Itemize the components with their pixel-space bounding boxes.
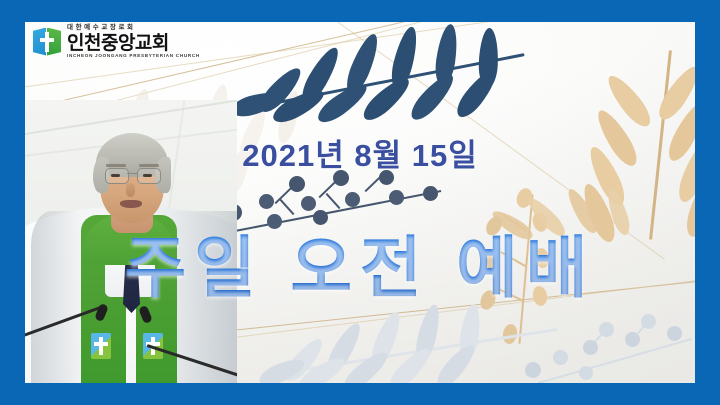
logo-english-name: INCHEON JOONGANG PRESBYTERIAN CHURCH: [67, 54, 200, 59]
olive-branch-top-icon: [237, 22, 537, 130]
church-logo[interactable]: 대한예수교장로회 인천중앙교회 INCHEON JOONGANG PRESBYT…: [33, 25, 200, 58]
mouth: [120, 200, 142, 208]
logo-church-name: 인천중앙교회: [67, 34, 200, 53]
logo-text-block: 대한예수교장로회 인천중앙교회 INCHEON JOONGANG PRESBYT…: [67, 25, 200, 58]
berry-branch-bottom-right-icon: [525, 312, 695, 383]
logo-denomination: 대한예수교장로회: [67, 25, 200, 32]
service-date: 2021년 8월 15일: [25, 130, 695, 175]
broadcast-frame: 대한예수교장로회 인천중앙교회 INCHEON JOONGANG PRESBYT…: [0, 0, 720, 405]
nose: [126, 183, 135, 197]
service-title: 주일 오전 예배: [25, 214, 695, 311]
cross-emblem: [91, 333, 111, 359]
church-cross-book-icon: [33, 27, 61, 57]
content-card: 대한예수교장로회 인천중앙교회 INCHEON JOONGANG PRESBYT…: [25, 22, 695, 383]
